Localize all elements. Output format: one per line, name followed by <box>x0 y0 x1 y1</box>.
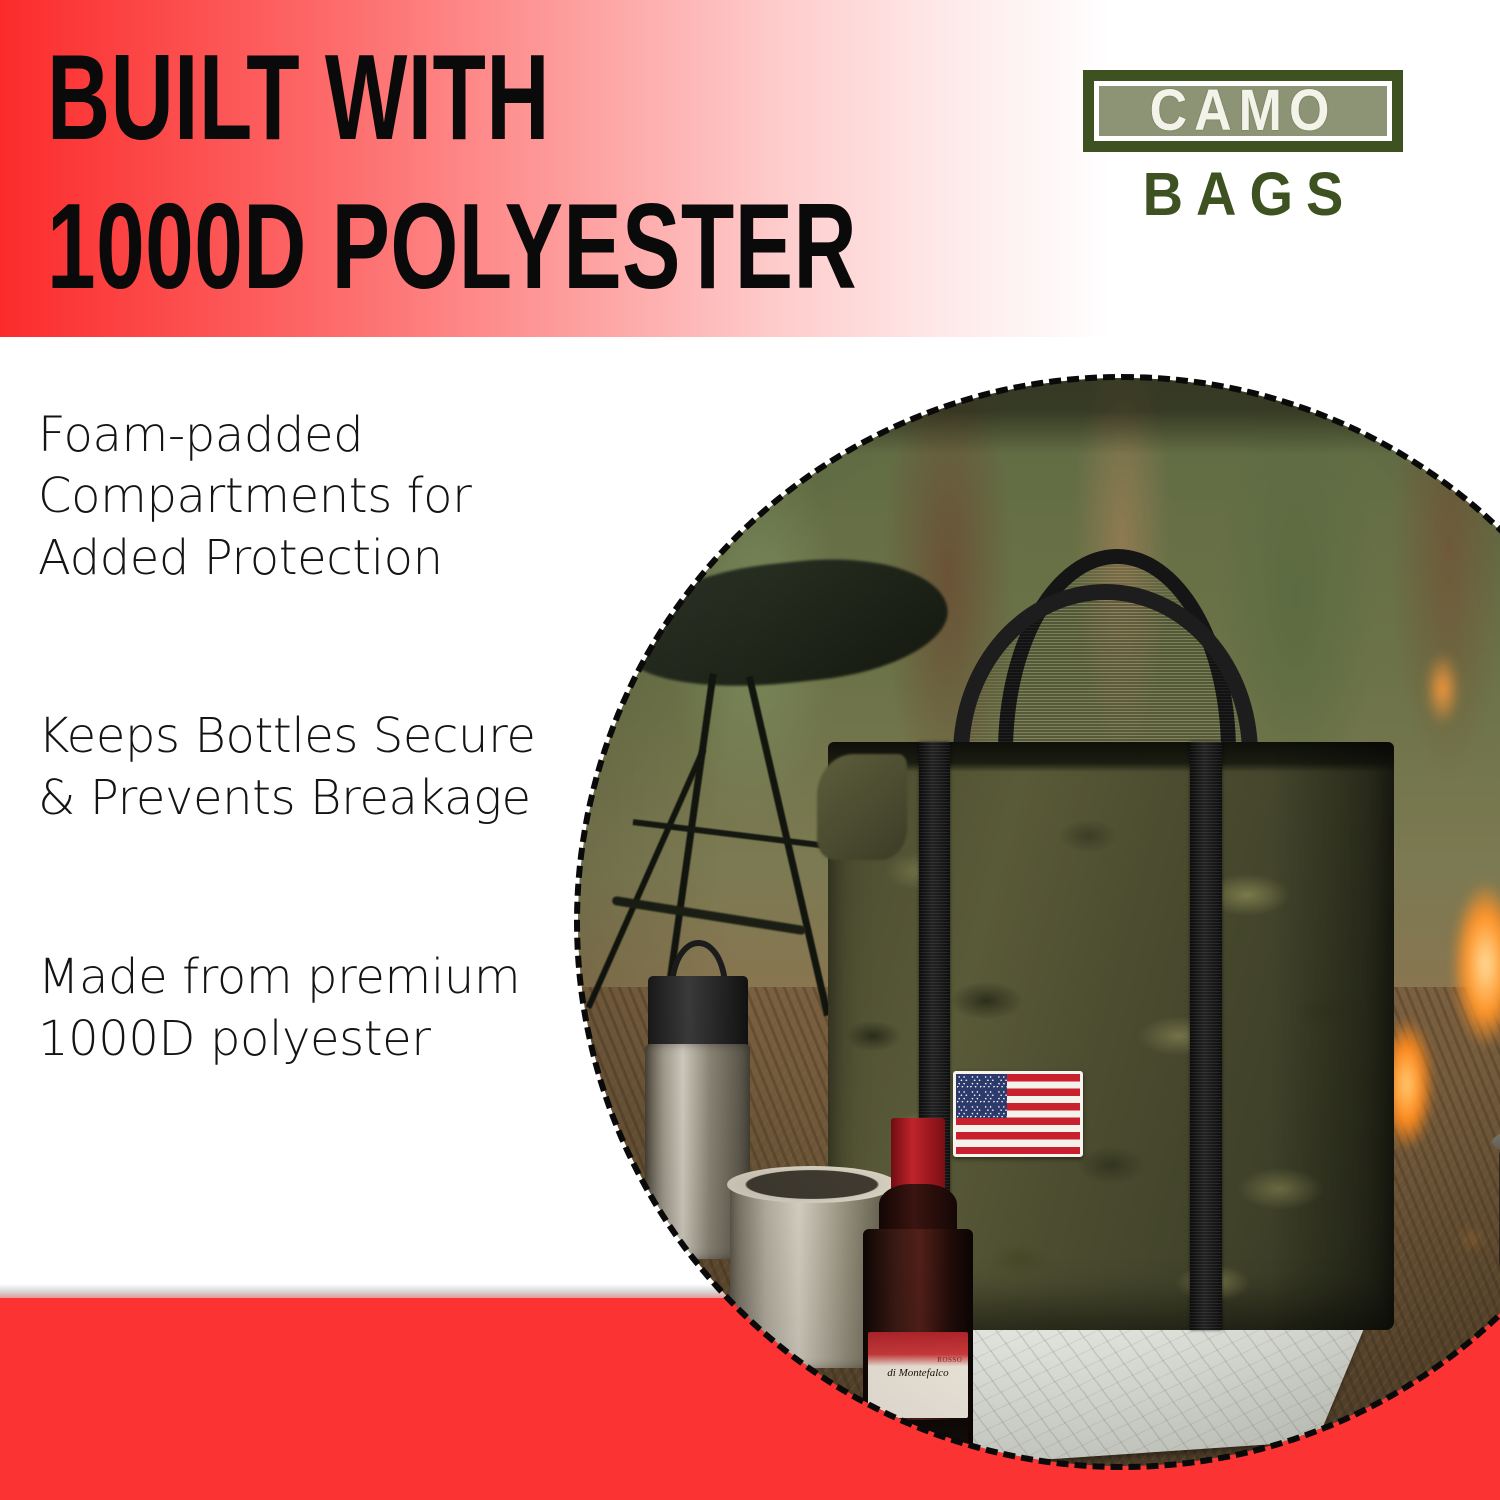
bag-webbing-strap <box>1190 742 1222 1330</box>
bag-fabric-fold <box>817 754 908 860</box>
wine-bottle-body: ROSSO di Montefalco LUNGAROTTI <box>863 1229 973 1466</box>
camp-stove <box>1492 1140 1500 1379</box>
feature-list: Foam-padded Compartments for Added Prote… <box>38 405 583 1070</box>
logo-text-camo: CAMO <box>1150 82 1337 140</box>
bag-shadow <box>1270 742 1394 1330</box>
wine-foil-capsule <box>891 1118 946 1192</box>
product-photo: ROSSO di Montefalco LUNGAROTTI <box>578 378 1500 1466</box>
wine-bottle: ROSSO di Montefalco LUNGAROTTI <box>861 1118 975 1466</box>
wine-bottle-base-band: LUNGAROTTI <box>868 1420 969 1466</box>
feature-item: Made from premium 1000D polyester <box>38 947 583 1070</box>
wine-label: ROSSO di Montefalco <box>868 1332 969 1417</box>
wine-label-type: ROSSO <box>937 1356 962 1364</box>
logo-plate: CAMO <box>1099 86 1387 136</box>
webbing-texture <box>969 600 1243 766</box>
wine-brand-text: LUNGAROTTI <box>868 1453 969 1462</box>
brand-logo: CAMO BAGS <box>1083 70 1403 222</box>
flag-canton-stars <box>956 1074 1007 1117</box>
logo-frame: CAMO <box>1083 70 1403 152</box>
headline: BUILT WITH 1000D POLYESTER <box>47 38 927 282</box>
product-photo-scene: ROSSO di Montefalco LUNGAROTTI <box>578 378 1500 1466</box>
wine-label-name: di Montefalco <box>868 1368 969 1380</box>
headline-line-2: 1000D POLYESTER <box>47 187 857 309</box>
feature-item: Foam-padded Compartments for Added Prote… <box>38 405 583 589</box>
logo-text-bags: BAGS <box>1083 163 1403 225</box>
headline-line-1: BUILT WITH <box>47 38 857 160</box>
bottle-lid <box>648 976 748 1050</box>
feature-item: Keeps Bottles Secure & Prevents Breakage <box>38 706 583 829</box>
